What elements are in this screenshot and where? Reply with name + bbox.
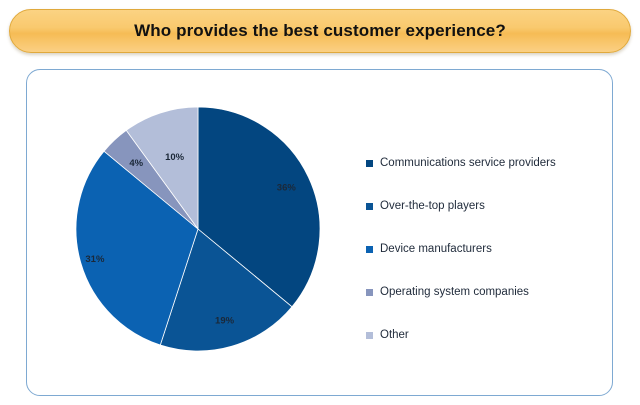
pie-slice-group	[76, 107, 320, 351]
legend-item[interactable]: Device manufacturers	[366, 228, 601, 271]
pie-chart-svg: 36%19%31%4%10%	[75, 106, 321, 352]
legend-item-label: Over-the-top players	[380, 201, 485, 213]
legend-swatch-icon	[366, 203, 373, 210]
page-title-banner: Who provides the best customer experienc…	[9, 9, 631, 53]
legend-swatch-icon	[366, 160, 373, 167]
legend-item-label: Operating system companies	[380, 287, 529, 299]
legend-item[interactable]: Other	[366, 314, 601, 357]
pie-slice-value-label: 4%	[129, 158, 143, 169]
legend-swatch-icon	[366, 332, 373, 339]
pie-slice-value-label: 10%	[165, 152, 185, 163]
pie-chart: 36%19%31%4%10%	[75, 106, 321, 352]
pie-slice-value-label: 19%	[215, 315, 235, 326]
legend-item[interactable]: Over-the-top players	[366, 185, 601, 228]
chart-legend: Communications service providersOver-the…	[366, 142, 601, 357]
legend-item-label: Other	[380, 330, 409, 342]
legend-item[interactable]: Operating system companies	[366, 271, 601, 314]
legend-item-label: Communications service providers	[380, 158, 556, 170]
page-title: Who provides the best customer experienc…	[134, 21, 506, 41]
pie-slice-value-label: 36%	[277, 182, 297, 193]
legend-swatch-icon	[366, 246, 373, 253]
chart-panel: 36%19%31%4%10% Communications service pr…	[26, 69, 613, 396]
legend-item[interactable]: Communications service providers	[366, 142, 601, 185]
legend-item-label: Device manufacturers	[380, 244, 492, 256]
legend-swatch-icon	[366, 289, 373, 296]
pie-slice-value-label: 31%	[85, 254, 105, 265]
